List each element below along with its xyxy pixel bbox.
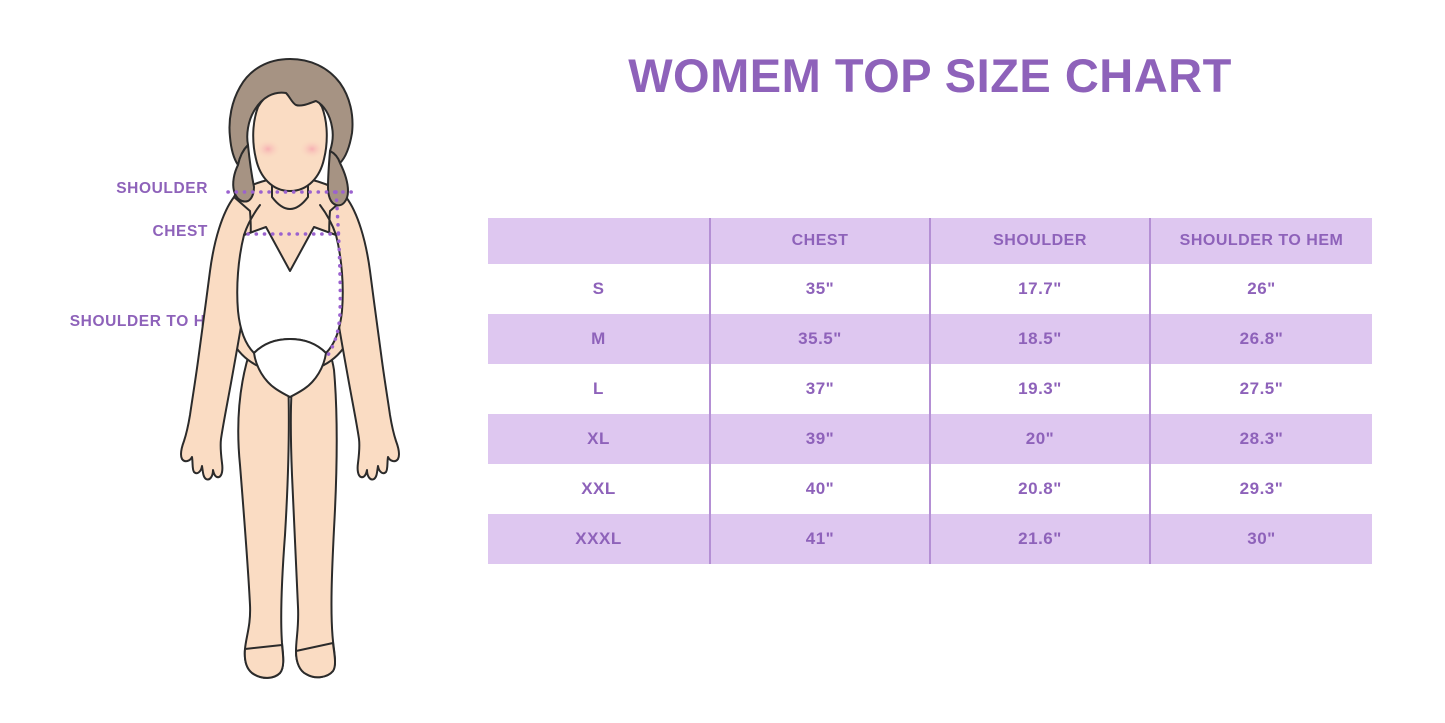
hair-side-right	[328, 151, 348, 205]
page-title: WOMEM TOP SIZE CHART	[470, 48, 1390, 103]
blush-right	[299, 139, 325, 159]
cell-shoulder: 20.8"	[930, 464, 1150, 514]
figure-illustration-panel: SHOULDER CHEST SHOULDER TO HEM	[0, 0, 470, 723]
female-body-figure	[140, 45, 440, 695]
cell-shoulder-to-hem: 29.3"	[1150, 464, 1372, 514]
cell-chest: 35"	[710, 264, 930, 314]
column-header-chest: CHEST	[710, 218, 930, 264]
size-chart-table: CHEST SHOULDER SHOULDER TO HEM S 35" 17.…	[488, 218, 1372, 564]
column-header-shoulder-to-hem: SHOULDER TO HEM	[1150, 218, 1372, 264]
cell-chest: 40"	[710, 464, 930, 514]
cell-size: S	[488, 264, 710, 314]
cell-shoulder-to-hem: 26"	[1150, 264, 1372, 314]
cell-shoulder-to-hem: 26.8"	[1150, 314, 1372, 364]
cell-size: XXXL	[488, 514, 710, 564]
cell-shoulder: 19.3"	[930, 364, 1150, 414]
cell-size: M	[488, 314, 710, 364]
table-row: XXXL 41" 21.6" 30"	[488, 514, 1372, 564]
cell-shoulder: 21.6"	[930, 514, 1150, 564]
table-row: XL 39" 20" 28.3"	[488, 414, 1372, 464]
table-row: L 37" 19.3" 27.5"	[488, 364, 1372, 414]
table-row: M 35.5" 18.5" 26.8"	[488, 314, 1372, 364]
cell-shoulder-to-hem: 27.5"	[1150, 364, 1372, 414]
cell-chest: 41"	[710, 514, 930, 564]
cell-size: L	[488, 364, 710, 414]
cell-size: XXL	[488, 464, 710, 514]
table-row: S 35" 17.7" 26"	[488, 264, 1372, 314]
foot-left	[245, 645, 283, 678]
blush-left	[255, 139, 281, 159]
cell-shoulder-to-hem: 28.3"	[1150, 414, 1372, 464]
cell-chest: 37"	[710, 364, 930, 414]
cell-shoulder-to-hem: 30"	[1150, 514, 1372, 564]
table-header-row: CHEST SHOULDER SHOULDER TO HEM	[488, 218, 1372, 264]
cell-shoulder: 17.7"	[930, 264, 1150, 314]
cell-shoulder: 20"	[930, 414, 1150, 464]
cell-size: XL	[488, 414, 710, 464]
face	[253, 87, 327, 191]
column-header-size	[488, 218, 710, 264]
cell-shoulder: 18.5"	[930, 314, 1150, 364]
cell-chest: 39"	[710, 414, 930, 464]
column-header-shoulder: SHOULDER	[930, 218, 1150, 264]
cell-chest: 35.5"	[710, 314, 930, 364]
table-row: XXL 40" 20.8" 29.3"	[488, 464, 1372, 514]
